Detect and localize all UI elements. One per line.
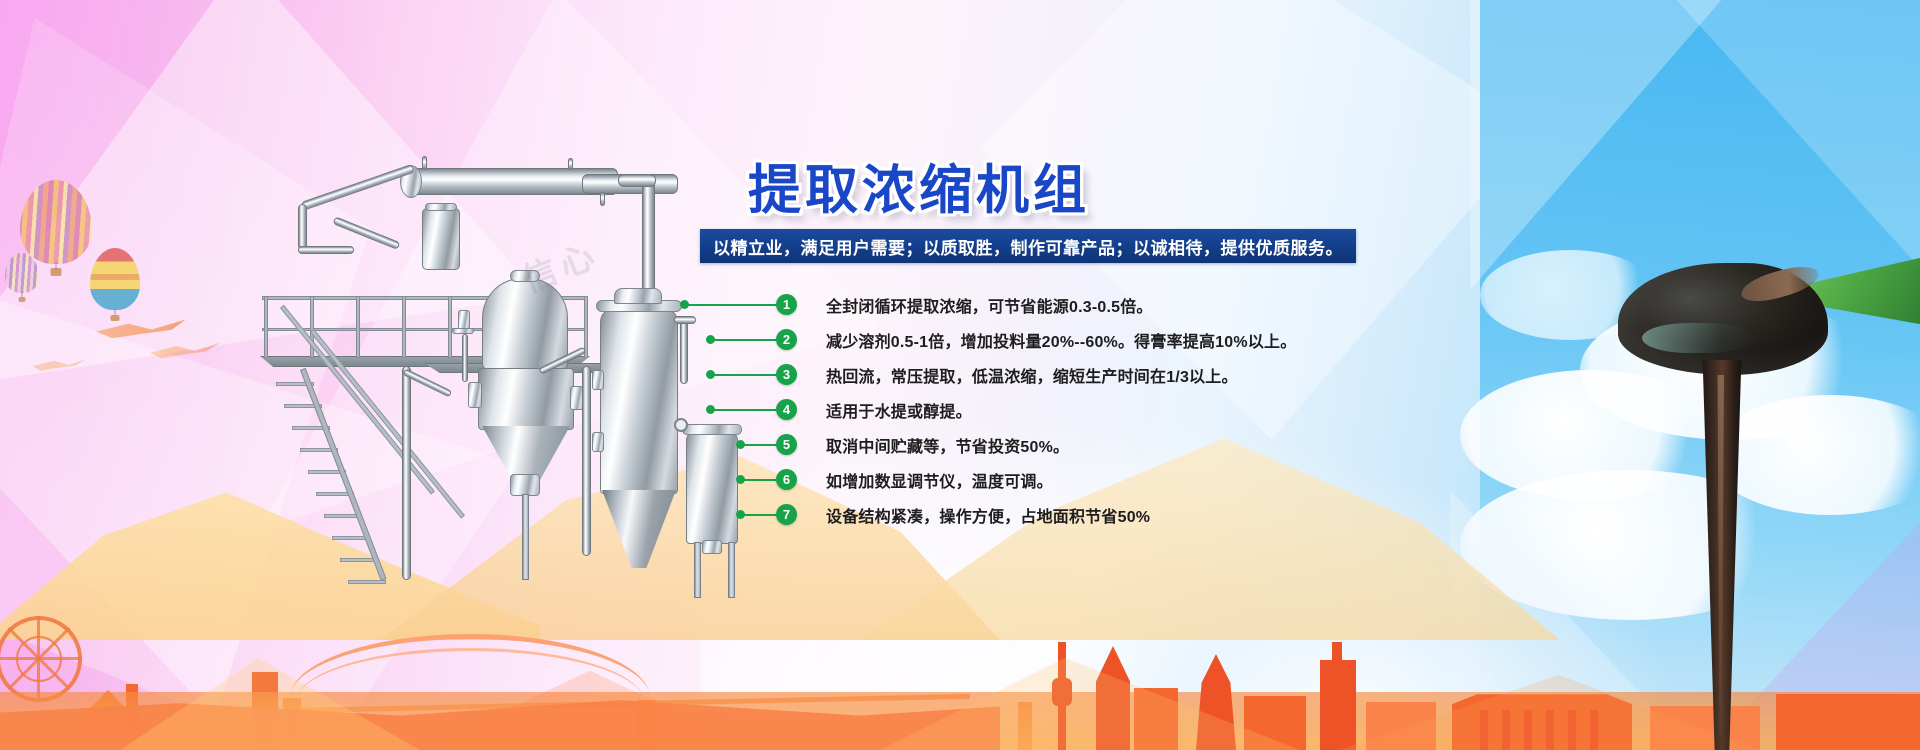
page-title: 提取浓缩机组 [748,148,1090,224]
feature-text: 全封闭循环提取浓缩，可节省能源0.3-0.5倍。 [826,293,1153,317]
receiver-support-leg [694,542,701,598]
list-item: 4 适用于水提或醇提。 [680,395,1440,424]
concentrator-lid [614,288,662,304]
extraction-tank-lower [478,368,574,430]
list-item: 5 取消中间贮藏等，节省投资50%。 [680,430,1440,459]
access-stairs [274,360,454,590]
feature-text: 设备结构紧凑，操作方便，占地面积节省50% [826,503,1150,527]
separator-lid [425,203,457,211]
feed-pipe-horizontal [298,246,354,254]
product-banner: 信心 提取浓缩机组 以精立业，满足用户需要；以质取胜，制作可靠产品；以诚相待，提… [0,0,1920,750]
feature-text: 如增加数显调节仪，温度可调。 [826,468,1053,492]
feed-pipe-bend [333,216,401,250]
list-item: 2 减少溶剂0.5-1倍，增加投料量20%--60%。得膏率提高10%以上。 [680,325,1440,354]
feature-text: 取消中间贮藏等，节省投资50%。 [826,433,1069,457]
discharge-valve [510,474,540,496]
condenser-nozzle [600,192,605,206]
feature-number-badge: 4 [776,399,797,420]
tank-support-leg [522,494,529,580]
balloon-basket [111,315,120,321]
support-column [402,366,411,580]
list-item: 1 全封闭循环提取浓缩，可节省能源0.3-0.5倍。 [680,290,1440,319]
feature-number-badge: 5 [776,434,797,455]
balloon-envelope [90,248,140,310]
feature-connector-line [712,374,776,376]
guard-rail-post [356,296,360,358]
feature-text: 适用于水提或醇提。 [826,398,972,422]
feature-number-badge: 2 [776,329,797,350]
extraction-tank-manhole [510,270,540,282]
balloon-envelope [20,180,92,264]
feature-text: 热回流，常压提取，低温浓缩，缩短生产时间在1/3以上。 [826,363,1238,387]
spoon-highlight [1642,323,1754,353]
guard-rail-post [402,296,406,358]
hot-air-balloon-medium [90,248,140,320]
feature-connector-line [686,304,776,306]
drain-pipe [462,334,468,382]
list-item: 7 设备结构紧凑，操作方便，占地面积节省50% [680,500,1440,529]
list-item: 3 热回流，常压提取，低温浓缩，缩短生产时间在1/3以上。 [680,360,1440,389]
receiver-bottom-valve [702,540,722,554]
extraction-tank [482,278,568,370]
feed-pipe-vertical [298,204,307,250]
balloon-basket [19,297,26,302]
feature-number-badge: 1 [776,294,797,315]
receiver-support-leg [728,542,735,598]
valve-assembly [458,310,470,330]
feed-pipe-diagonal [301,164,416,211]
guard-rail-post [264,296,268,358]
clock-tower-top [1332,642,1342,664]
hot-air-balloon-small [5,253,39,301]
feature-connector-line [742,444,776,446]
tank-side-flange [468,382,482,408]
balloon-basket [51,268,62,276]
feature-number-badge: 7 [776,504,797,525]
balloon-envelope [5,253,39,293]
riser-elbow [618,174,656,187]
extraction-tank-cone [482,426,570,480]
company-slogan-bar: 以精立业，满足用户需要；以质取胜，制作可靠产品；以诚相待，提供优质服务。 [700,229,1356,263]
concentrator-column [600,308,678,494]
condenser-nozzle [568,158,573,170]
guard-rail-post [448,296,452,358]
feature-connector-line [712,409,776,411]
feature-connector-line [712,339,776,341]
list-item: 6 如增加数显调节仪，温度可调。 [680,465,1440,494]
feature-number-badge: 3 [776,364,797,385]
feature-list: 1 全封闭循环提取浓缩，可节省能源0.3-0.5倍。 2 减少溶剂0.5-1倍，… [680,282,1440,532]
extract-dripping-graphic [1590,215,1920,750]
condenser-nozzle [422,156,427,170]
clock-tower [1320,660,1356,750]
oil-water-separator [422,208,460,270]
concentrator-sight-glass [592,370,604,390]
feature-connector-line [742,514,776,516]
concentrator-sight-glass [592,432,604,452]
support-column [582,366,591,556]
feature-number-badge: 6 [776,469,797,490]
feature-text: 减少溶剂0.5-1倍，增加投料量20%--60%。得膏率提高10%以上。 [826,328,1296,352]
feature-connector-line [742,479,776,481]
valve-handwheel [452,328,474,334]
concentrator-cone [602,490,676,568]
